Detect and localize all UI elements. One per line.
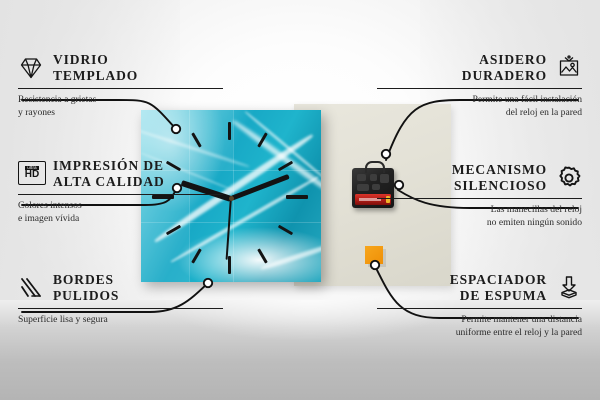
feature-mecanismo-silencioso[interactable]: MECANISMO SILENCIOSO Las manecillas del …	[377, 162, 582, 229]
feature-desc-line1: Permite una fácil instalación	[377, 94, 582, 106]
feature-title: VIDRIO TEMPLADO	[53, 52, 138, 84]
foam-spacer	[365, 246, 383, 264]
feature-desc-line2: no emiten ningún sonido	[377, 217, 582, 229]
feature-desc-line2: uniforme entre el reloj y la pared	[377, 327, 582, 339]
feature-description: Superficie lisa y segura	[18, 314, 223, 326]
ultra-hd-icon: ultra HD	[18, 161, 44, 187]
feature-description: Las manecillas del reloj no emiten ningú…	[377, 204, 582, 229]
feature-divider	[18, 88, 223, 89]
feature-title-line1: ASIDERO	[462, 52, 547, 68]
feature-title-line2: SILENCIOSO	[452, 178, 547, 194]
feature-desc-line2: y rayones	[18, 107, 223, 119]
feature-head: MECANISMO SILENCIOSO	[377, 162, 582, 194]
feature-head: BORDES PULIDOS	[18, 272, 223, 304]
feature-desc-line2: e imagen vívida	[18, 213, 223, 225]
feature-divider	[377, 88, 582, 89]
feature-description: Colores intensos e imagen vívida	[18, 200, 223, 225]
feature-title-line2: ALTA CALIDAD	[53, 174, 165, 190]
feature-head: VIDRIO TEMPLADO	[18, 52, 223, 84]
feature-description: Resistencia a grietas y rayones	[18, 94, 223, 119]
clock-tick-12	[228, 122, 231, 140]
feature-head: ESPACIADOR DE ESPUMA	[377, 272, 582, 304]
feature-title: IMPRESIÓN DE ALTA CALIDAD	[53, 158, 165, 190]
feature-head: ASIDERO DURADERO	[377, 52, 582, 84]
feature-title-line2: DE ESPUMA	[450, 288, 547, 304]
feature-title-line1: BORDES	[53, 272, 119, 288]
gear-icon	[556, 165, 582, 191]
feature-espaciador-de-espuma[interactable]: ESPACIADOR DE ESPUMA Permite mantener un…	[377, 272, 582, 339]
feature-title: ESPACIADOR DE ESPUMA	[450, 272, 547, 304]
movement-detail	[357, 174, 366, 181]
feature-divider	[18, 308, 223, 309]
feature-title: ASIDERO DURADERO	[462, 52, 547, 84]
clock-tick-6	[228, 256, 231, 274]
foam-spacer-arrow-icon	[556, 275, 582, 301]
feature-divider	[377, 198, 582, 199]
feature-desc-line2: del reloj en la pared	[377, 107, 582, 119]
feature-description: Permite mantener una distancia uniforme …	[377, 314, 582, 339]
clock-tick-3	[286, 195, 308, 199]
feature-vidrio-templado[interactable]: VIDRIO TEMPLADO Resistencia a grietas y …	[18, 52, 223, 119]
clock-center-pin	[229, 196, 234, 201]
feature-title-line2: TEMPLADO	[53, 68, 138, 84]
ultra-hd-large-text: HD	[25, 170, 39, 180]
feature-divider	[377, 308, 582, 309]
feature-desc-line1: Las manecillas del reloj	[377, 204, 582, 216]
feature-desc-line1: Permite mantener una distancia	[377, 314, 582, 326]
infographic-stage: VIDRIO TEMPLADO Resistencia a grietas y …	[0, 0, 600, 400]
movement-detail	[370, 174, 377, 181]
feature-desc-line1: Superficie lisa y segura	[18, 314, 223, 326]
feature-bordes-pulidos[interactable]: BORDES PULIDOS Superficie lisa y segura	[18, 272, 223, 327]
feature-title-line1: MECANISMO	[452, 162, 547, 178]
feature-title-line2: DURADERO	[462, 68, 547, 84]
feature-impresion-alta-calidad[interactable]: ultra HD IMPRESIÓN DE ALTA CALIDAD Color…	[18, 158, 223, 225]
feature-head: ultra HD IMPRESIÓN DE ALTA CALIDAD	[18, 158, 223, 190]
feature-title-line1: ESPACIADOR	[450, 272, 547, 288]
diamond-icon	[18, 55, 44, 81]
feature-title: BORDES PULIDOS	[53, 272, 119, 304]
wall-hanger-frame-icon	[556, 55, 582, 81]
feature-title-line1: IMPRESIÓN DE	[53, 158, 165, 174]
feature-title: MECANISMO SILENCIOSO	[452, 162, 547, 194]
feature-title-line2: PULIDOS	[53, 288, 119, 304]
movement-detail	[357, 184, 369, 191]
feature-desc-line1: Resistencia a grietas	[18, 94, 223, 106]
feature-description: Permite una fácil instalación del reloj …	[377, 94, 582, 119]
feature-desc-line1: Colores intensos	[18, 200, 223, 212]
feature-asidero-duradero[interactable]: ASIDERO DURADERO Permite una fácil insta…	[377, 52, 582, 119]
polished-edges-icon	[18, 275, 44, 301]
feature-divider	[18, 194, 223, 195]
feature-title-line1: VIDRIO	[53, 52, 138, 68]
